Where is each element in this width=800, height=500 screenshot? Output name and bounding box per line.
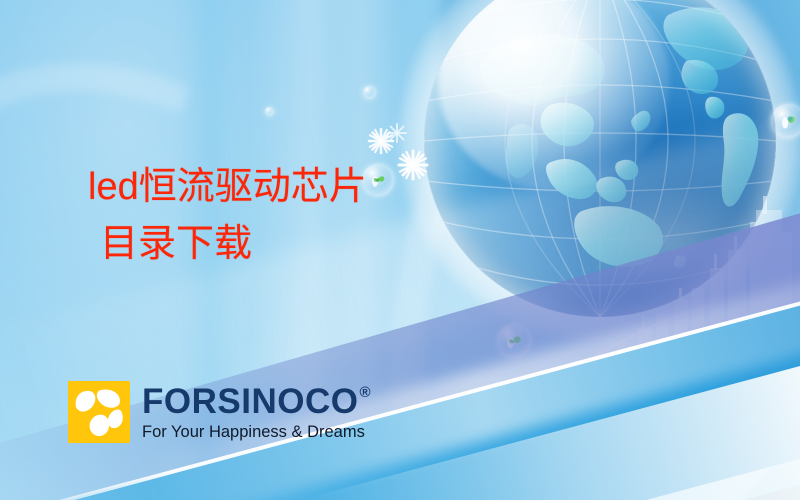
- asterisk-flower-3: [386, 122, 408, 144]
- logo-text-block: FORSINOCO® For Your Happiness & Dreams: [142, 381, 371, 443]
- headline-line-2: 目录下载: [100, 219, 367, 270]
- city-skyline-graphic: [560, 192, 800, 382]
- headline-line-1: led恒流驱动芯片: [88, 162, 367, 213]
- logo-wordmark: FORSINOCO®: [142, 384, 371, 419]
- bubble-decoration-2: [497, 324, 531, 358]
- headline-cjk: 恒流驱动芯片: [139, 166, 367, 208]
- logo-wordmark-text: FORSINOCO: [142, 384, 358, 419]
- bubble-decoration-5: [265, 107, 274, 116]
- led-catalog-banner: led恒流驱动芯片 目录下载 FORSINOCO® For Your Happi…: [0, 0, 800, 500]
- bubble-decoration-3: [771, 104, 800, 138]
- asterisk-flower-2: [396, 148, 430, 182]
- headline-text: led恒流驱动芯片 目录下载: [88, 162, 367, 270]
- registered-trademark-icon: ®: [359, 385, 371, 400]
- bubble-decoration-4: [363, 86, 376, 99]
- four-petal-pinwheel-icon: [68, 381, 130, 443]
- headline-latin: led: [88, 166, 139, 208]
- logo-tagline: For Your Happiness & Dreams: [142, 424, 371, 441]
- company-logo: FORSINOCO® For Your Happiness & Dreams: [68, 381, 371, 443]
